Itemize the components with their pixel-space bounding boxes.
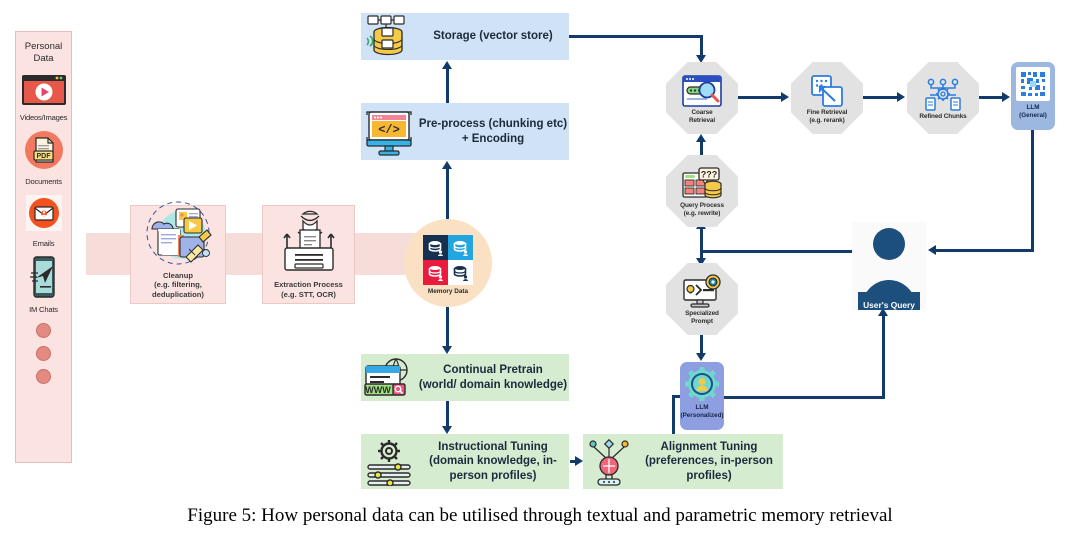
personal-data-label-videos: Videos/Images — [16, 113, 71, 122]
connector-memory-to-pretrain — [446, 306, 449, 348]
arrowhead-right-alignment — [575, 456, 583, 466]
arrowhead-down-coarse — [696, 55, 706, 63]
llm-personalized-label: LLM (Personalized) — [680, 404, 723, 420]
user-avatar-icon — [852, 222, 926, 310]
instructional-tuning-label: Instructional Tuning (domain knowledge, … — [417, 440, 569, 482]
instructional-tuning-node[interactable]: Instructional Tuning (domain knowledge, … — [361, 434, 569, 489]
user-query-label: User's Query — [852, 300, 926, 310]
more-dot — [36, 369, 51, 384]
connector-llm-personalized-right — [724, 396, 885, 399]
arrowhead-down-instructional — [442, 426, 452, 434]
personal-data-item-documents[interactable]: PDF Documents — [16, 130, 71, 186]
personal-data-label-documents: Documents — [16, 177, 71, 186]
personal-data-title: Personal Data — [16, 41, 71, 66]
coarse-retrieval-label: Coarse Retrieval — [689, 109, 715, 124]
personal-data-more-dots — [16, 323, 71, 384]
connector-coarse-to-fine — [738, 96, 785, 99]
www-browser-search-icon: WWW — [361, 354, 417, 401]
figure-caption: Figure 5: How personal data can be utili… — [0, 505, 1080, 527]
svg-text:PDF: PDF — [36, 153, 51, 160]
connector-llm-general-down — [1031, 130, 1034, 251]
memory-data-node[interactable]: Memory Data — [404, 219, 492, 307]
connector-storage-down-to-coarse — [700, 35, 703, 57]
rerank-select-icon — [809, 75, 845, 107]
llm-general-node[interactable]: LLM (General) — [1011, 62, 1055, 130]
arrowhead-down-pretrain — [442, 346, 452, 354]
personal-data-item-videos[interactable]: Videos/Images — [16, 74, 71, 122]
continual-pretrain-label: Continual Pretrain (world/ domain knowle… — [417, 363, 569, 391]
alignment-tuning-label: Alignment Tuning (preferences, in-person… — [635, 440, 783, 482]
alignment-tuning-node[interactable]: Alignment Tuning (preferences, in-person… — [583, 434, 783, 489]
search-magnifier-window-icon — [681, 75, 723, 107]
preprocess-label: Pre-process (chunking etc) + Encoding — [417, 117, 569, 145]
coarse-retrieval-node[interactable]: Coarse Retrieval — [666, 62, 738, 134]
arrowhead-up-preprocess — [442, 161, 452, 169]
personal-data-item-emails[interactable]: Emails — [16, 194, 71, 248]
connector-llm-general-left-to-user — [935, 249, 1034, 252]
llm-chip-icon — [1016, 67, 1050, 101]
more-dot — [36, 323, 51, 338]
gear-sliders-icon — [361, 434, 417, 489]
fine-retrieval-node[interactable]: Fine Retrieval (e.g. rerank) — [791, 62, 863, 134]
personal-data-panel: Personal Data Videos/Images — [15, 31, 72, 463]
query-process-label: Query Process (e.g. rewrite) — [680, 202, 724, 217]
storage-label: Storage (vector store) — [417, 29, 569, 43]
svg-text:???: ??? — [701, 170, 718, 180]
llm-personalized-node[interactable]: LLM (Personalized) — [680, 362, 724, 430]
connector-alignment-up — [672, 398, 675, 436]
chat-send-phone-icon — [27, 256, 61, 298]
specialized-prompt-label: Specialized Prompt — [685, 310, 719, 325]
connector-user-to-query-process — [700, 250, 855, 253]
extraction-node[interactable]: Extraction Process (e.g. STT, OCR) — [262, 205, 355, 304]
arrowhead-right-llm-general — [1002, 92, 1010, 102]
vector-database-icon — [361, 13, 417, 60]
arrowhead-up-storage — [442, 61, 452, 69]
preprocess-node[interactable]: </> Pre-process (chunking etc) + Encodin… — [361, 103, 569, 160]
video-player-icon — [21, 74, 67, 106]
arrowhead-right-fine — [781, 92, 789, 102]
user-query-node[interactable]: User's Query — [852, 222, 926, 310]
refined-chunks-label: Refined Chunks — [919, 113, 966, 121]
data-cleanup-icon — [131, 199, 225, 271]
pdf-document-icon: PDF — [24, 130, 64, 170]
personalized-gear-user-icon — [685, 367, 719, 401]
code-monitor-icon: </> — [361, 103, 417, 160]
specialized-prompt-node[interactable]: Specialized Prompt — [666, 263, 738, 335]
chunks-network-icon — [923, 79, 963, 111]
connector-storage-right — [569, 35, 703, 38]
arrowhead-right-refined — [897, 92, 905, 102]
figure-container: Personal Data Videos/Images — [0, 0, 1080, 541]
personal-data-label-emails: Emails — [16, 239, 71, 248]
storage-node[interactable]: Storage (vector store) — [361, 13, 569, 60]
email-envelope-icon — [25, 194, 63, 232]
database-user-quadrant-icon — [423, 235, 473, 285]
refined-chunks-node[interactable]: Refined Chunks — [907, 62, 979, 134]
connector-pretrain-to-instructional — [446, 401, 449, 428]
cleanup-label: Cleanup (e.g. filtering, deduplication) — [131, 271, 225, 299]
llm-general-label: LLM (General) — [1019, 104, 1047, 120]
query-process-node[interactable]: ??? Query Process (e.g. rewrite) — [666, 155, 738, 227]
memory-data-label: Memory Data — [404, 288, 492, 295]
svg-text:</>: </> — [378, 123, 400, 137]
cleanup-node[interactable]: Cleanup (e.g. filtering, deduplication) — [130, 205, 226, 304]
personal-data-label-im-chats: IM Chats — [16, 305, 71, 314]
extraction-label: Extraction Process (e.g. STT, OCR) — [274, 280, 343, 299]
arrowhead-down-llm-personalized — [696, 353, 706, 361]
more-dot — [36, 346, 51, 361]
neural-alignment-icon — [583, 434, 635, 489]
arrowhead-left-user-query — [928, 245, 936, 255]
continual-pretrain-node[interactable]: WWW Continual Pretrain (world/ domain kn… — [361, 354, 569, 401]
scanner-extraction-icon — [263, 206, 354, 280]
connector-fine-to-refined — [863, 96, 901, 99]
personal-data-item-im-chats[interactable]: IM Chats — [16, 256, 71, 314]
query-rewrite-database-icon: ??? — [681, 168, 723, 200]
connector-trunk-up-to-query — [700, 228, 703, 252]
connector-preprocess-to-storage — [446, 68, 449, 104]
arrowhead-up-coarse-from-query — [696, 134, 706, 142]
prompt-monitor-icon — [681, 276, 723, 308]
connector-memory-to-preprocess — [446, 168, 449, 220]
svg-text:WWW: WWW — [365, 385, 391, 395]
fine-retrieval-label: Fine Retrieval (e.g. rerank) — [807, 109, 848, 124]
connector-llm-personalized-up-to-user — [882, 315, 885, 398]
